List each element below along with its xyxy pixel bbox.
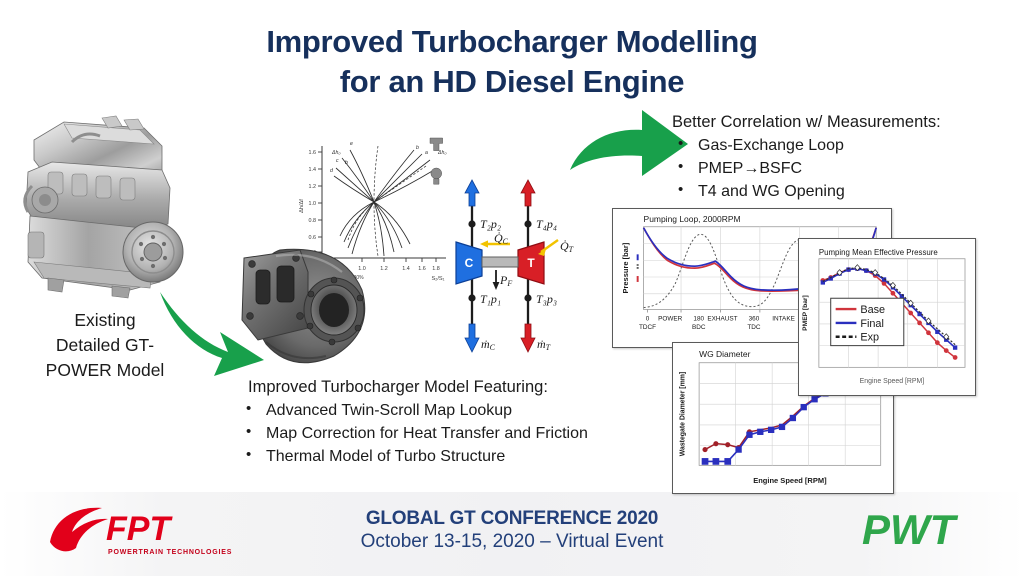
svg-text:TDCF: TDCF (639, 324, 656, 331)
svg-text:TDC: TDC (747, 324, 761, 331)
svg-text:1.6: 1.6 (309, 150, 317, 156)
svg-text:INTAKE: INTAKE (772, 315, 795, 322)
svg-text:e: e (350, 141, 353, 147)
svg-text:BDC: BDC (692, 324, 706, 331)
block-heading: Improved Turbocharger Model Featuring: (240, 378, 588, 397)
pmep-title: Pumping Mean Effective Pressure (819, 248, 939, 257)
page-title: Improved Turbocharger Modelling for an H… (0, 22, 1024, 103)
legend-base: Base (860, 304, 885, 316)
svg-text:180: 180 (693, 315, 704, 322)
svg-text:T₁p₁: T₁p₁ (480, 292, 501, 306)
caption-line-1: Existing (14, 308, 196, 333)
title-line-1: Improved Turbocharger Modelling (266, 24, 757, 59)
svg-text:Wastegate Diameter [mm]: Wastegate Diameter [mm] (679, 372, 686, 456)
turbocharger-schematic: C T T₂p₂ T₄p₄ T₁p₁ T₃p₃ Q̇C Q̇T PF ṁC m… (440, 166, 602, 356)
svg-text:360: 360 (749, 315, 760, 322)
svg-text:1.4: 1.4 (402, 266, 410, 272)
svg-text:b: b (345, 160, 348, 166)
svg-text:Engine Speed [RPM]: Engine Speed [RPM] (860, 378, 925, 385)
svg-text:c: c (336, 158, 339, 164)
svg-text:T₄p₄: T₄p₄ (536, 217, 557, 231)
list-item: Thermal Model of Turbo Structure (240, 445, 588, 468)
svg-text:1.2: 1.2 (309, 184, 317, 190)
legend-final: Final (860, 318, 884, 330)
svg-text:d: d (330, 168, 334, 174)
caption-line-2: Detailed GT- (14, 333, 196, 358)
pwt-logo: PWT (856, 500, 1006, 558)
title-line-2: for an HD Diesel Engine (0, 62, 1024, 102)
svg-text:T: T (527, 256, 535, 270)
svg-text:Q̇C: Q̇C (494, 231, 509, 246)
svg-text:ṁC: ṁC (481, 337, 496, 352)
svg-text:Δh₀: Δh₀ (437, 150, 447, 156)
svg-text:Q̇T: Q̇T (560, 239, 574, 254)
svg-text:C: C (465, 256, 474, 270)
svg-text:1.4: 1.4 (309, 167, 317, 173)
svg-text:0.8: 0.8 (309, 218, 317, 224)
svg-text:a: a (425, 150, 428, 156)
hd-diesel-engine-photo (12, 112, 198, 302)
svg-text:PF: PF (499, 273, 512, 288)
better-correlation-block: Better Correlation w/ Measurements: Gas-… (672, 113, 941, 203)
svg-text:b: b (416, 145, 419, 151)
list-item: Advanced Twin-Scroll Map Lookup (240, 399, 588, 422)
improved-model-block: Improved Turbocharger Model Featuring: A… (240, 378, 588, 468)
caption-line-3: POWER Model (14, 358, 196, 383)
legend-exp: Exp (860, 332, 879, 344)
svg-text:T₂p₂: T₂p₂ (480, 217, 501, 231)
wg-diameter-title: WG Diameter (699, 349, 750, 359)
svg-text:EXHAUST: EXHAUST (707, 315, 737, 322)
pmep-chart-panel: Pumping Mean Effective Pressure PMEP [ba… (798, 238, 976, 396)
existing-model-caption: Existing Detailed GT- POWER Model (14, 308, 196, 383)
list-item: Map Correction for Heat Transfer and Fri… (240, 422, 588, 445)
svg-text:T₃p₃: T₃p₃ (536, 292, 557, 306)
svg-text:Δh/Δf: Δh/Δf (299, 199, 305, 213)
svg-text:ṁT: ṁT (537, 337, 551, 352)
svg-text:Engine Speed [RPM]: Engine Speed [RPM] (753, 476, 827, 485)
svg-text:Pressure [bar]: Pressure [bar] (621, 242, 630, 293)
list-item: Gas-Exchange Loop (672, 134, 941, 157)
svg-text:1.6: 1.6 (418, 266, 426, 272)
block-heading: Better Correlation w/ Measurements: (672, 113, 941, 132)
svg-text:Δh₀: Δh₀ (331, 150, 341, 156)
svg-text:POWER: POWER (658, 315, 683, 322)
bullet-list: Advanced Twin-Scroll Map Lookup Map Corr… (240, 399, 588, 468)
list-item: T4 and WG Opening (672, 180, 941, 203)
bullet-list: Gas-Exchange Loop PMEP→BSFC T4 and WG Op… (672, 134, 941, 203)
list-item: PMEP→BSFC (672, 157, 941, 180)
svg-text:PMEP [bar]: PMEP [bar] (802, 295, 809, 331)
pwt-wordmark: PWT (862, 506, 959, 553)
pumping-loop-title: Pumping Loop, 2000RPM (644, 214, 741, 224)
svg-text:0: 0 (646, 315, 650, 322)
slide-canvas: Improved Turbocharger Modelling for an H… (0, 0, 1024, 576)
svg-text:1.8: 1.8 (432, 266, 440, 272)
svg-text:1.0: 1.0 (309, 201, 317, 207)
